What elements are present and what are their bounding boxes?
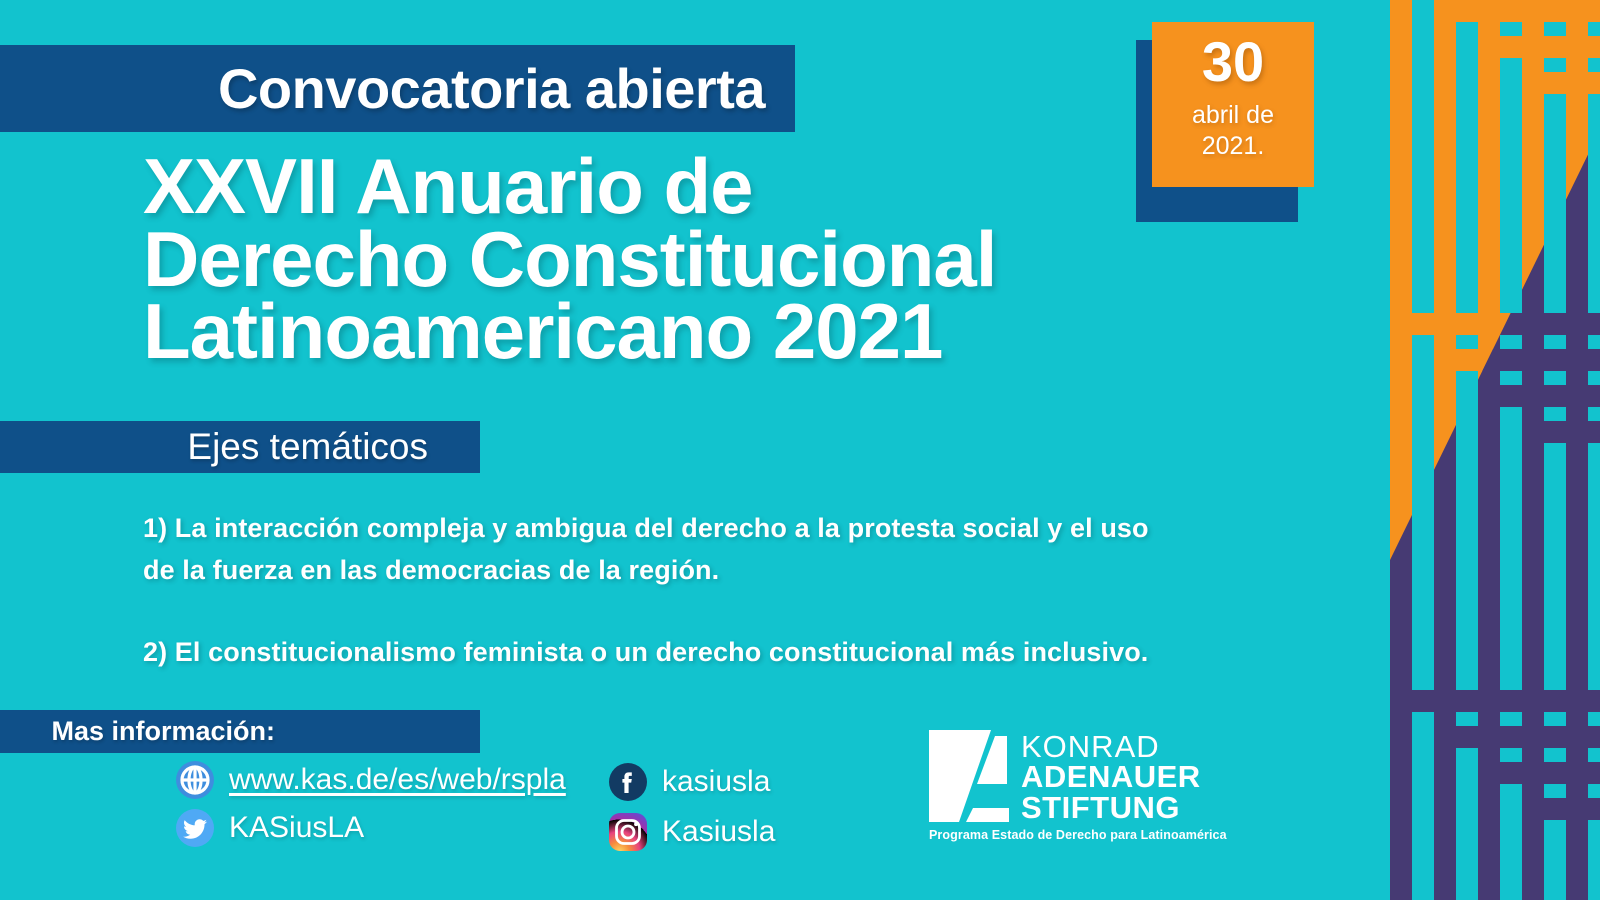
maze-decoration: [1390, 0, 1600, 900]
title-line-1: XXVII Anuario de: [143, 150, 1153, 223]
date-badge-square: 30 abril de 2021.: [1152, 22, 1314, 187]
twitter-handle[interactable]: KASiusLA: [229, 811, 364, 845]
convocatoria-label: Convocatoria abierta: [218, 56, 765, 121]
globe-icon: [175, 760, 215, 800]
theme-item-1: 1) La interacción compleja y ambigua del…: [143, 508, 1173, 592]
kas-logo-line-1: KONRAD: [1021, 732, 1201, 762]
date-month: abril de: [1192, 100, 1274, 131]
page-title: XXVII Anuario de Derecho Constitucional …: [143, 150, 1153, 368]
convocatoria-banner: Convocatoria abierta: [0, 45, 795, 132]
ejes-tematicos-banner: Ejes temáticos: [0, 421, 480, 473]
kas-logo-mark: [929, 730, 1009, 822]
mas-informacion-label: Mas información:: [51, 716, 275, 747]
title-line-2: Derecho Constitucional: [143, 223, 1153, 296]
contact-website[interactable]: www.kas.de/es/web/rspla: [175, 760, 566, 800]
contact-instagram[interactable]: Kasiusla: [608, 812, 775, 852]
title-line-3: Latinoamericano 2021: [143, 295, 1153, 368]
kas-logo-line-2: ADENAUER: [1021, 762, 1201, 792]
mas-informacion-banner: Mas información:: [0, 710, 480, 753]
theme-item-2: 2) El constitucionalismo feminista o un …: [143, 632, 1173, 674]
ejes-tematicos-label: Ejes temáticos: [187, 426, 428, 468]
kas-logo-tagline: Programa Estado de Derecho para Latinoam…: [929, 828, 1204, 842]
date-day: 30: [1202, 34, 1264, 90]
date-badge: 30 abril de 2021.: [1136, 22, 1314, 204]
date-year: 2021.: [1202, 131, 1265, 162]
twitter-icon: [175, 808, 215, 848]
contact-twitter[interactable]: KASiusLA: [175, 808, 364, 848]
kas-logo-line-3: STIFTUNG: [1021, 793, 1201, 823]
instagram-handle[interactable]: Kasiusla: [662, 815, 775, 849]
website-url[interactable]: www.kas.de/es/web/rspla: [229, 763, 566, 797]
facebook-icon: [608, 762, 648, 802]
facebook-handle[interactable]: kasiusla: [662, 765, 770, 799]
kas-logo: KONRAD ADENAUER STIFTUNG Programa Estado…: [929, 730, 1204, 842]
instagram-icon: [608, 812, 648, 852]
poster-canvas: Convocatoria abierta XXVII Anuario de De…: [0, 0, 1600, 900]
contact-facebook[interactable]: kasiusla: [608, 762, 770, 802]
kas-logo-text: KONRAD ADENAUER STIFTUNG: [1021, 732, 1201, 823]
